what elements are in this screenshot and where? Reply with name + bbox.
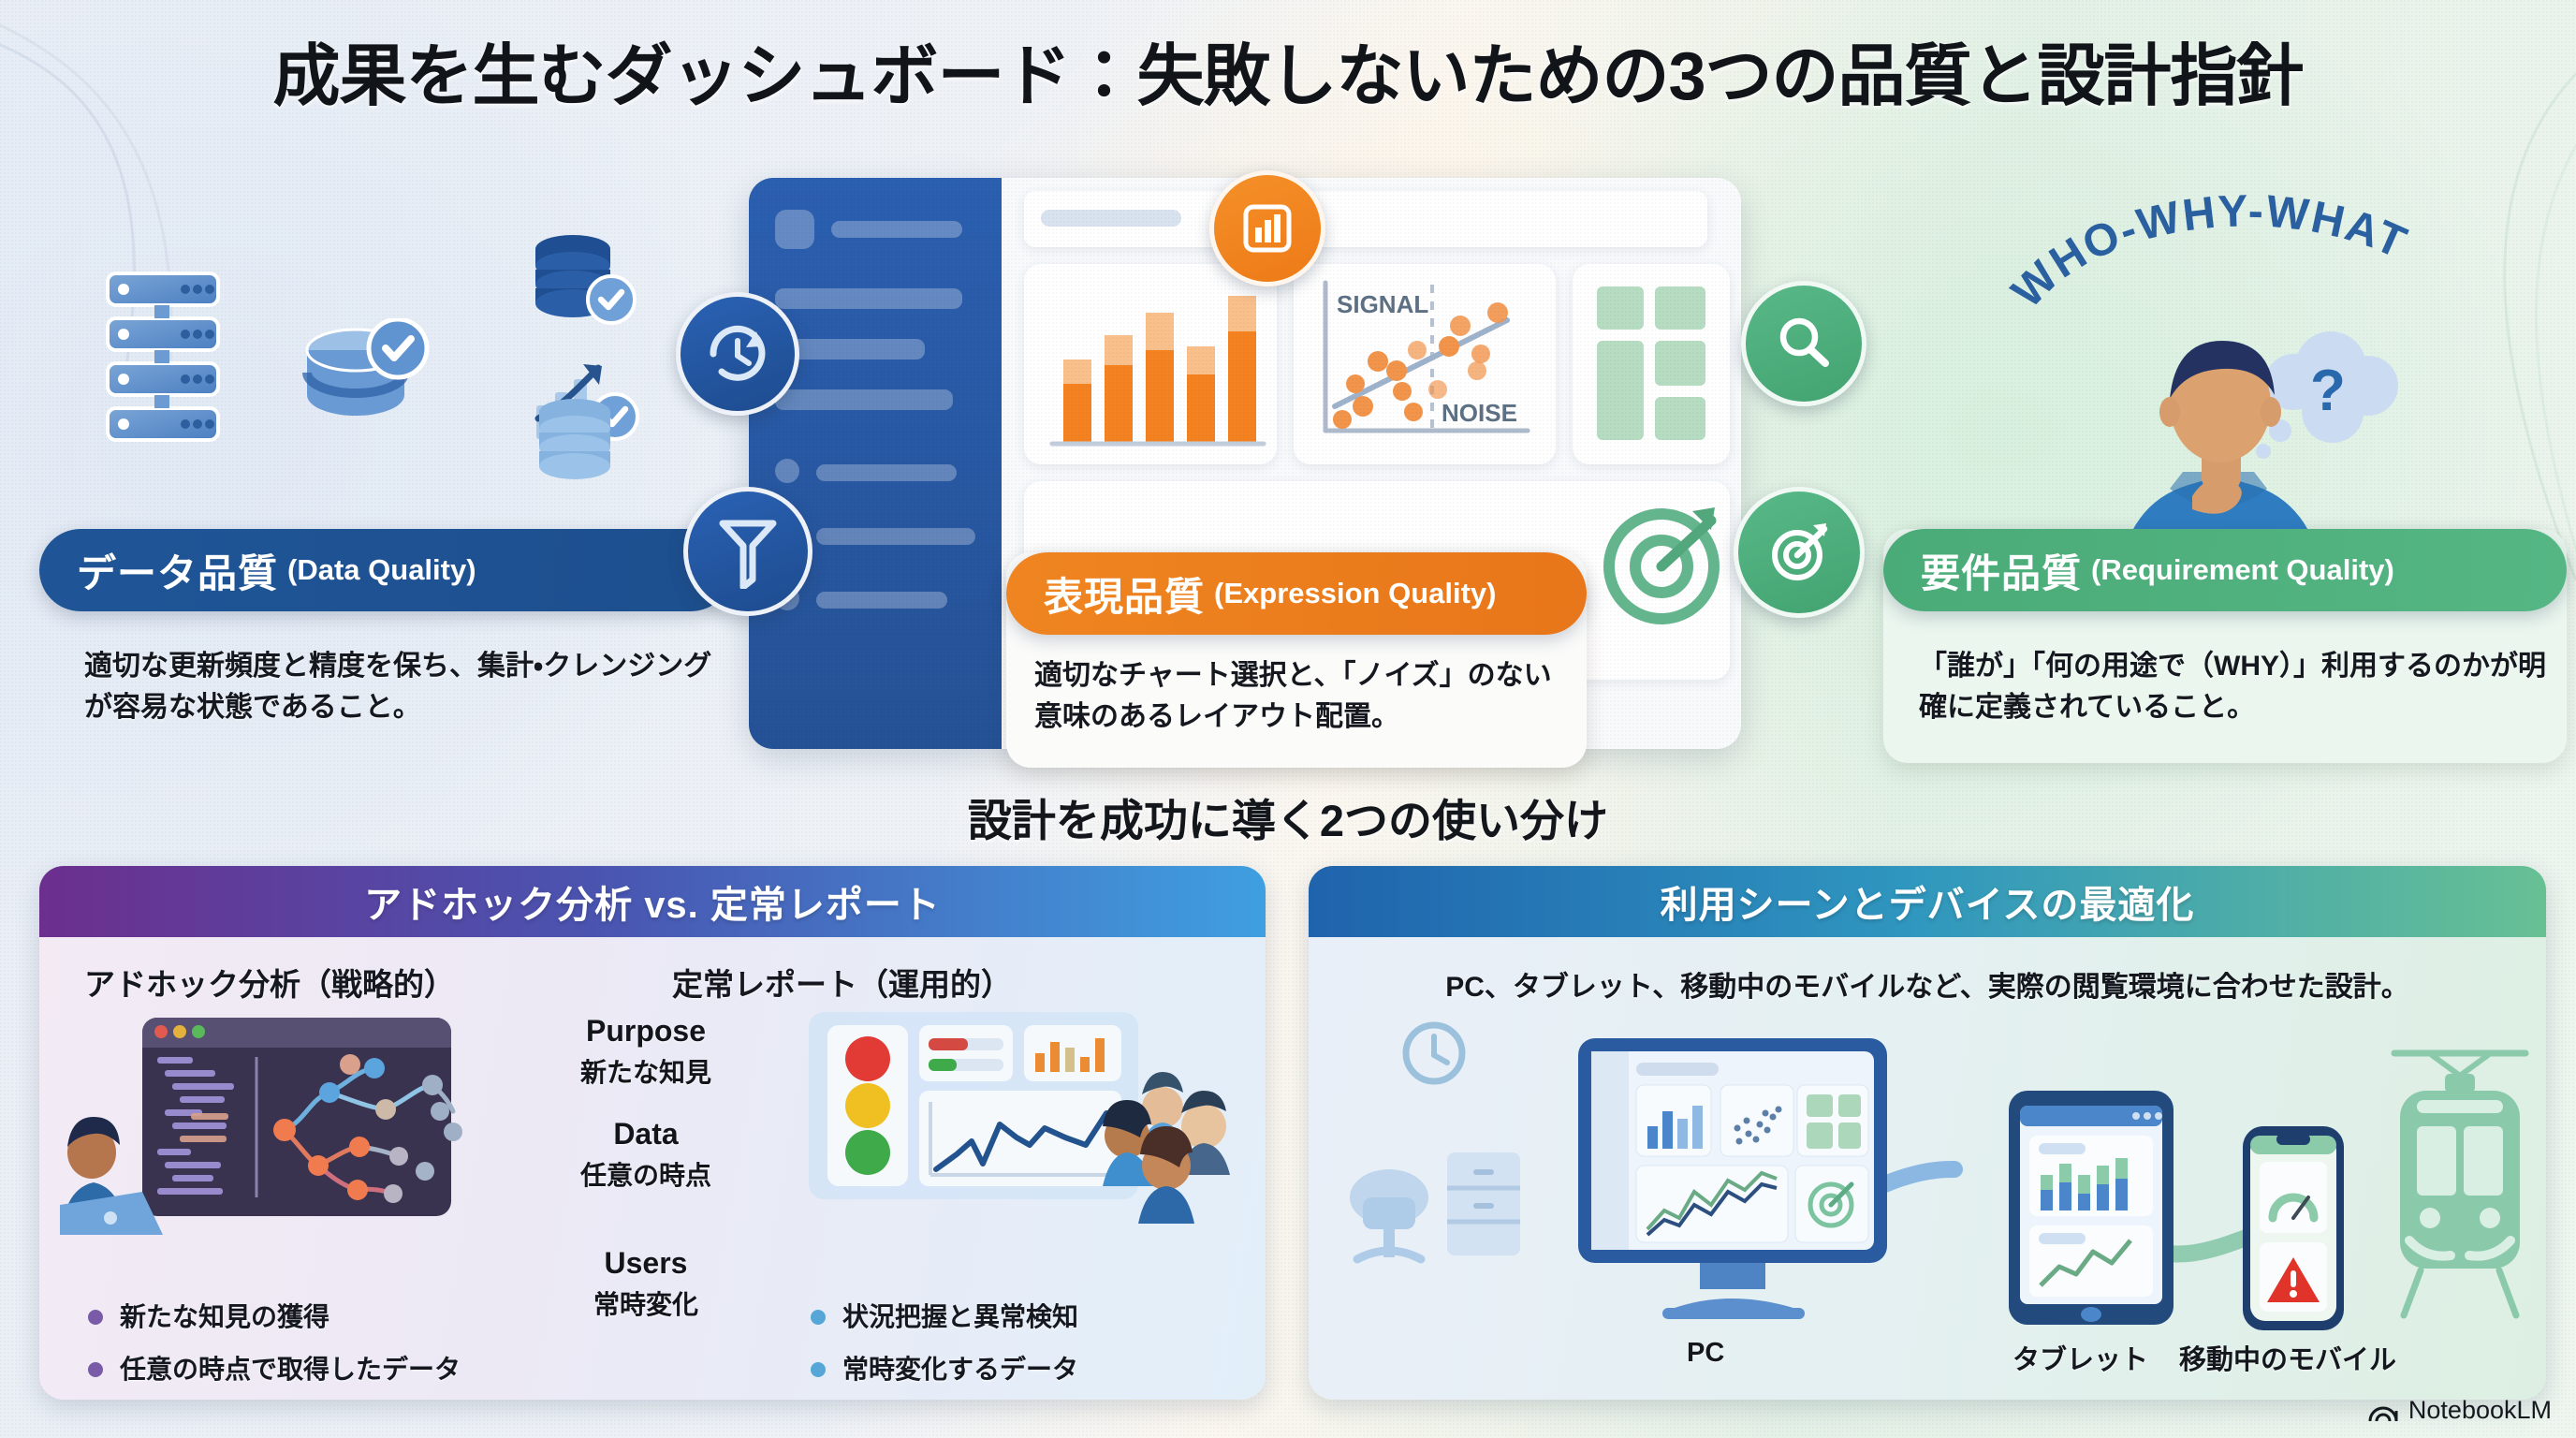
report-column-title: 定常レポート（運用的）: [672, 960, 1012, 1005]
search-badge: [1741, 281, 1866, 406]
compare-purpose-key: Purpose: [534, 1014, 758, 1049]
chart-badge: [1209, 170, 1325, 286]
layout-grid-tile: [1573, 264, 1730, 464]
data-quality-banner: データ品質 (Data Quality): [39, 529, 732, 611]
scatter-signal-noise-chart: SIGNAL NOISE: [1294, 264, 1556, 464]
data-quality-description: 適切な更新頻度と精度を保ち、集計・クレンジングが容易な状態であること。: [84, 646, 739, 728]
scatter-noise-label: NOISE: [1442, 399, 1517, 427]
pc-device-illustration: [1559, 1031, 1934, 1330]
expression-quality-description: 適切なチャート選択と、「ノイズ」のない意味のあるレイアウト配置。: [1034, 655, 1577, 738]
requirement-quality-en: (Requirement Quality): [2091, 553, 2394, 587]
list-item: 任意の時点で取得したデータ: [88, 1357, 461, 1383]
bar-chart-tile: [1024, 264, 1277, 464]
panel-left-body: アドホック分析（戦略的） 定常レポート（運用的）: [39, 937, 1266, 1400]
filter-funnel-icon: [713, 514, 783, 589]
compare-data: Data 任意の時点: [534, 1117, 758, 1193]
target-decoration-icon: [1591, 496, 1732, 637]
train-illustration: [2376, 1040, 2544, 1321]
list-item: 新たな知見の獲得: [88, 1304, 461, 1330]
compare-users-value: 常時変化: [534, 1284, 758, 1322]
notebooklm-logo-icon: [2367, 1399, 2399, 1423]
report-bullet-list: 状況把握と異常検知 常時変化するデータ ビジネスユーザ全員: [811, 1304, 1078, 1400]
compare-data-key: Data: [534, 1117, 758, 1152]
requirement-quality-banner: 要件品質 (Requirement Quality): [1883, 529, 2567, 611]
adhoc-bullet-list: 新たな知見の獲得 任意の時点で取得したデータ データサイエンティスト: [88, 1304, 461, 1400]
page-title: 成果を生むダッシュボード：失敗しないための3つの品質と設計指針: [0, 21, 2576, 119]
list-item: 状況把握と異常検知: [811, 1304, 1078, 1330]
device-label-pc: PC: [1687, 1338, 1724, 1369]
target-badge: [1734, 487, 1865, 618]
clock-refresh-icon: [702, 318, 773, 389]
data-quality-jp: データ品質: [77, 542, 278, 599]
expression-quality-en: (Expression Quality): [1214, 577, 1496, 610]
compare-users: Users 常時変化: [534, 1246, 758, 1322]
compare-data-value: 任意の時点: [534, 1155, 758, 1193]
routine-report-illustration: [788, 1005, 1237, 1239]
magnifier-icon: [1771, 311, 1837, 376]
scatter-signal-label: SIGNAL: [1337, 290, 1428, 318]
layout-grid-icon: [1573, 264, 1730, 464]
mobile-device-illustration: [2233, 1121, 2364, 1345]
panel-right-header: 利用シーンとデバイスの最適化: [1309, 866, 2546, 937]
database-verified-icon: [300, 318, 431, 449]
panel-left-header: アドホック分析 vs. 定常レポート: [39, 866, 1266, 937]
panel-adhoc-vs-report: アドホック分析 vs. 定常レポート アドホック分析（戦略的） 定常レポート（運…: [39, 866, 1266, 1400]
dashboard-topbar-tile: [1024, 191, 1707, 247]
device-label-mobile: 移動中のモバイル: [2179, 1338, 2396, 1377]
who-why-what-arc-text: WHO-WHY-WHAT: [1984, 187, 2509, 356]
database-light-icon: [526, 393, 629, 496]
infographic-canvas: 成果を生むダッシュボード：失敗しないための3つの品質と設計指針: [0, 0, 2576, 1438]
bar-chart-icon: [1238, 199, 1296, 257]
mid-section-heading: 設計を成功に導く2つの使い分け: [0, 785, 2576, 849]
compare-purpose: Purpose 新たな知見: [534, 1014, 758, 1090]
data-quality-en: (Data Quality): [287, 553, 476, 587]
office-decor-illustration: [1329, 1014, 1573, 1295]
compare-purpose-value: 新たな知見: [534, 1052, 758, 1090]
database-stack-check-icon: [524, 232, 637, 335]
bar-chart: [1024, 264, 1277, 464]
list-item: 常時変化するデータ: [811, 1357, 1078, 1383]
panel-right-body: PC、タブレット、移動中のモバイルなど、実際の閲覧環境に合わせた設計。: [1309, 937, 2546, 1400]
svg-text:WHO-WHY-WHAT: WHO-WHY-WHAT: [2002, 187, 2414, 317]
expression-quality-jp: 表現品質: [1044, 565, 1205, 623]
adhoc-analysis-illustration: [60, 1010, 481, 1244]
panel-right-description: PC、タブレット、移動中のモバイルなど、実際の閲覧環境に合わせた設計。: [1309, 963, 2546, 1005]
requirement-quality-jp: 要件品質: [1921, 542, 2082, 599]
filter-funnel-badge: [683, 487, 812, 616]
tablet-device-illustration: [1999, 1085, 2187, 1338]
panel-device-optimization: 利用シーンとデバイスの最適化 PC、タブレット、移動中のモバイルなど、実際の閲覧…: [1309, 866, 2546, 1400]
notebooklm-label: NotebookLM: [2408, 1396, 2552, 1425]
device-label-tablet: タブレット: [2012, 1338, 2148, 1377]
server-stack-icon: [103, 271, 225, 449]
svg-text:?: ?: [2310, 359, 2346, 423]
target-arrow-icon: [1764, 518, 1834, 587]
dashboard-sidebar: [749, 178, 1002, 749]
compare-users-key: Users: [534, 1246, 758, 1281]
expression-quality-banner: 表現品質 (Expression Quality): [1006, 552, 1587, 635]
adhoc-column-title: アドホック分析（戦略的）: [84, 960, 455, 1005]
scatter-chart-tile: SIGNAL NOISE: [1294, 264, 1556, 464]
notebooklm-watermark: NotebookLM: [2367, 1396, 2552, 1425]
refresh-clock-badge: [676, 292, 799, 416]
requirement-quality-description: 「誰が」「何の用途で（WHY）」利用するのかが明確に定義されていること。: [1919, 646, 2565, 728]
